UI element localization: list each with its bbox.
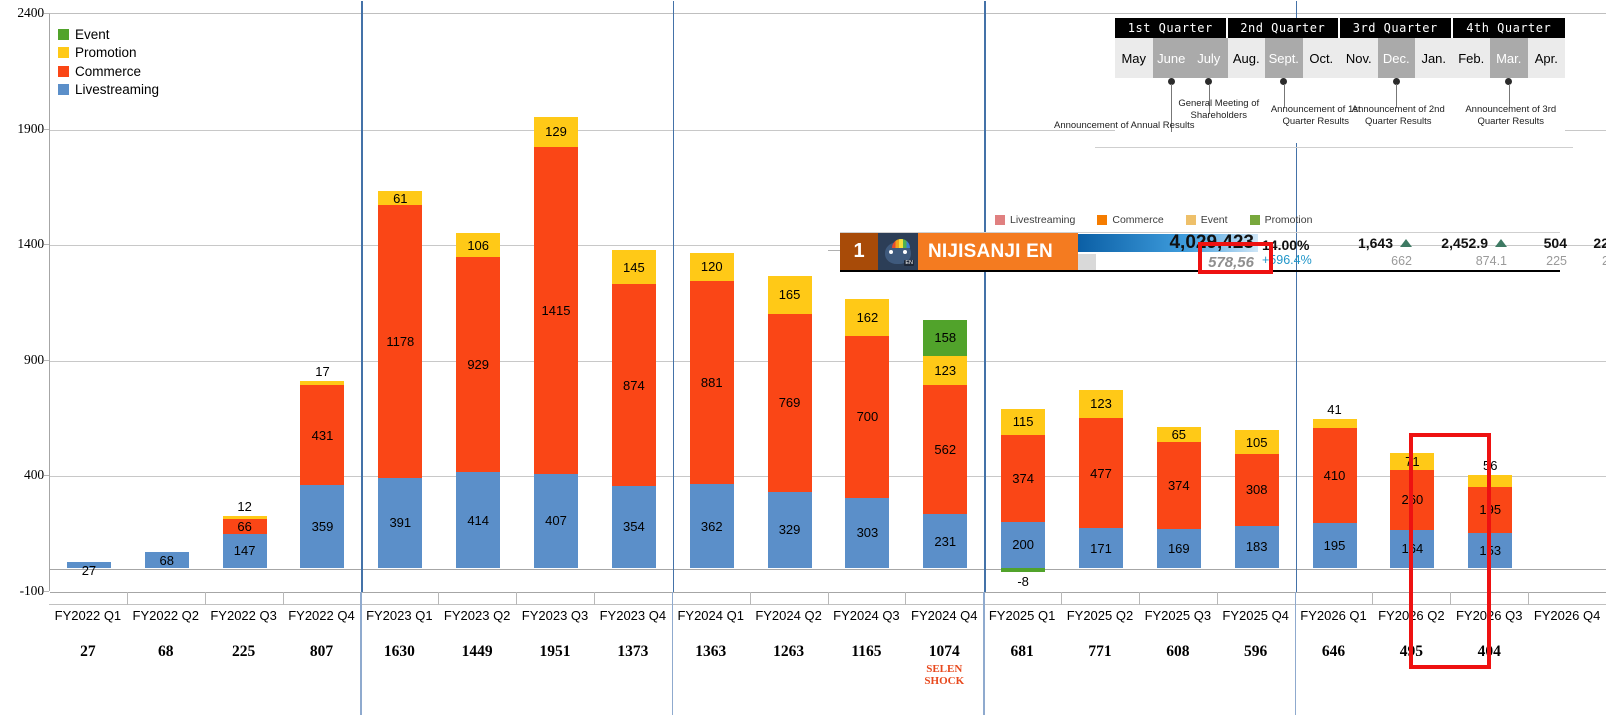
y-axis-tick-label: 900 — [0, 352, 44, 368]
bar-segment-commerce: 562 — [923, 385, 967, 515]
overlay-column-3: 504 225 — [1513, 233, 1573, 270]
x-axis-category-label: FY2023 Q2 — [438, 608, 516, 623]
x-axis-category-label: FY2026 Q1 — [1295, 608, 1373, 623]
bar-segment-commerce: 374 — [1157, 442, 1201, 528]
category-total: 27 — [49, 643, 127, 661]
bar-segment-livestreaming: 407 — [534, 474, 578, 568]
overlay-column-3-bottom: 225 — [1546, 252, 1567, 270]
category-total: 1449 — [438, 643, 516, 661]
legend-item[interactable]: Livestreaming — [58, 81, 159, 100]
calendar-month-row: MayJuneJulyAug.Sept.Oct.Nov.Dec.Jan.Feb.… — [1115, 38, 1565, 78]
legend-item[interactable]: Promotion — [58, 44, 159, 63]
calendar-month-cell: Apr. — [1528, 38, 1566, 78]
x-axis-tick-separator — [1372, 592, 1373, 605]
bar-segment-commerce: 308 — [1235, 454, 1279, 525]
x-axis-category-label: FY2025 Q1 — [983, 608, 1061, 623]
bar-segment-promotion: 41 — [1313, 419, 1357, 428]
rank-number: 1 — [840, 233, 878, 270]
overlay-column-4-value: 22 — [1593, 235, 1606, 251]
x-axis-tick-separator — [1528, 592, 1529, 605]
calendar-event-annotations: Announcement of Annual ResultsGeneral Me… — [1115, 78, 1565, 141]
highlight-box-growth-percent — [1198, 242, 1273, 274]
x-axis-category-label: FY2023 Q3 — [516, 608, 594, 623]
calendar-month-cell: Oct. — [1303, 38, 1341, 78]
x-axis-tick-separator — [205, 592, 206, 605]
x-axis-category-cell[interactable]: FY2022 Q4807 — [283, 592, 361, 661]
overlay-legend-label: Commerce — [1112, 214, 1163, 226]
category-total: 807 — [283, 643, 361, 661]
overlay-metric-bar-secondary — [1078, 254, 1096, 270]
bar-segment-livestreaming: 169 — [1157, 529, 1201, 568]
legend-item[interactable]: Commerce — [58, 62, 159, 81]
bar-segment-livestreaming: 27 — [67, 562, 111, 568]
overlay-column-1: 1,643 662 — [1340, 233, 1418, 270]
category-total: 1263 — [750, 643, 828, 661]
bar-segment-commerce: 881 — [690, 281, 734, 485]
bar-segment-promotion: 145 — [612, 250, 656, 284]
overlay-column-4: 22 2 — [1573, 233, 1606, 270]
legend-item[interactable]: Event — [58, 25, 159, 44]
bar-value-label: 27 — [67, 563, 111, 578]
bar-segment-promotion: 61 — [378, 191, 422, 205]
bar-segment-promotion: 123 — [923, 356, 967, 384]
channel-name: NIJISANJI EN — [918, 233, 1078, 270]
calendar-quarter-header: 2nd Quarter — [1228, 18, 1341, 38]
x-axis-tick-separator — [1061, 592, 1062, 605]
bar-segment-commerce: 477 — [1079, 418, 1123, 528]
x-axis-tick-separator — [1217, 592, 1218, 605]
legend-item-label: Event — [75, 27, 110, 42]
calendar-bottom-rule — [1095, 147, 1573, 148]
calendar-month-cell: Nov. — [1340, 38, 1378, 78]
x-axis-category-cell[interactable]: FY2024 Q21263 — [750, 592, 828, 661]
calendar-event-label: Announcement of Annual Results — [1039, 120, 1209, 132]
bar-segment-promotion: 17 — [300, 381, 344, 385]
bar-segment-label: 17 — [300, 364, 344, 379]
bar-segment-promotion: 105 — [1235, 430, 1279, 454]
bar-segment-promotion: 123 — [1079, 390, 1123, 418]
calendar-month-cell: Mar. — [1490, 38, 1528, 78]
calendar-month-cell: Sept. — [1265, 38, 1303, 78]
chart-legend: EventPromotionCommerceLivestreaming — [58, 25, 159, 99]
category-total: 608 — [1139, 643, 1217, 661]
bar-segment-livestreaming: 195 — [1313, 523, 1357, 568]
calendar-quarter-header: 3rd Quarter — [1340, 18, 1453, 38]
x-axis-year-separator — [672, 592, 674, 715]
bar-segment-livestreaming: 354 — [612, 486, 656, 568]
y-axis-tick-label: 2400 — [0, 5, 44, 21]
y-axis-tick-label: 1400 — [0, 236, 44, 252]
calendar-quarter-header: 1st Quarter — [1115, 18, 1228, 38]
calendar-month-cell: Jan. — [1415, 38, 1453, 78]
x-axis-category-cell[interactable]: FY2026 Q1646 — [1295, 592, 1373, 661]
x-axis-tick-separator — [750, 592, 751, 605]
bar-segment-commerce: 1415 — [534, 147, 578, 474]
calendar-month-cell: Aug. — [1228, 38, 1266, 78]
x-axis-labels: FY2022 Q127FY2022 Q268FY2022 Q3225FY2022… — [49, 592, 1606, 715]
overlay-column-1-top: 1,643 — [1358, 233, 1412, 252]
x-axis-category-cell[interactable]: FY2023 Q41373 — [594, 592, 672, 661]
bar-segment-livestreaming: 171 — [1079, 528, 1123, 568]
overlay-column-2-top: 2,452.9 — [1441, 233, 1507, 252]
calendar-month-cell: Feb. — [1453, 38, 1491, 78]
x-axis-category-cell[interactable]: FY2025 Q1681 — [983, 592, 1061, 661]
overlay-legend-item: Livestreaming — [995, 214, 1075, 226]
highlight-box-fy2026-q3 — [1409, 433, 1491, 669]
x-axis-category-label: FY2025 Q3 — [1139, 608, 1217, 623]
overlay-legend: LivestreamingCommerceEventPromotion — [840, 212, 1560, 228]
overlay-column-2: 2,452.9 874.1 — [1418, 233, 1513, 270]
category-total: 1165 — [828, 643, 906, 661]
x-axis-category-label: FY2022 Q1 — [49, 608, 127, 623]
x-axis-category-label: FY2022 Q4 — [283, 608, 361, 623]
overlay-column-4-bottom: 2 — [1602, 252, 1606, 270]
legend-swatch-icon — [58, 29, 69, 40]
y-axis-tick-label: 1900 — [0, 121, 44, 137]
x-axis-year-separator — [983, 592, 985, 715]
bar-segment-livestreaming: 147 — [223, 534, 267, 568]
category-total: 681 — [983, 643, 1061, 661]
category-annotation: SELEN SHOCK — [905, 664, 983, 687]
overlay-legend-label: Event — [1201, 214, 1228, 226]
avatar-eye-right — [903, 250, 907, 254]
overlay-column-2-bottom: 874.1 — [1476, 252, 1507, 270]
bar-segment-promotion: 120 — [690, 253, 734, 281]
bar-segment-livestreaming: 231 — [923, 514, 967, 567]
x-axis-year-separator — [1295, 592, 1297, 715]
y-axis-tick-label: -100 — [0, 583, 44, 599]
avatar-en-tag: EN — [904, 260, 914, 266]
category-total: 68 — [127, 643, 205, 661]
calendar-month-cell: July — [1190, 38, 1228, 78]
bar-segment-commerce: 769 — [768, 314, 812, 492]
x-axis-category-cell[interactable]: FY2023 Q11630 — [360, 592, 438, 661]
category-total: 1074 — [905, 643, 983, 661]
bar-segment-commerce: 66 — [223, 519, 267, 534]
x-axis-tick-separator — [594, 592, 595, 605]
category-total: 646 — [1295, 643, 1373, 661]
overlay-column-3-top: 504 — [1544, 233, 1567, 252]
bar-segment-commerce: 929 — [456, 257, 500, 472]
bar-segment-livestreaming: 359 — [300, 485, 344, 568]
x-axis-category-label: FY2022 Q3 — [205, 608, 283, 623]
bar-segment-label: 41 — [1313, 402, 1357, 417]
x-axis-category-label: FY2024 Q4 — [905, 608, 983, 623]
channel-avatar-icon: EN — [878, 233, 918, 270]
overlay-legend-label: Livestreaming — [1010, 214, 1075, 226]
overlay-legend-swatch-icon — [1250, 215, 1260, 225]
overlay-legend-item: Promotion — [1250, 214, 1313, 226]
bar-segment-promotion: 162 — [845, 299, 889, 336]
bar-segment-event-negative: -8 — [1001, 568, 1045, 572]
x-axis-year-separator — [360, 592, 362, 715]
up-triangle-icon — [1495, 239, 1507, 247]
legend-swatch-icon — [58, 47, 69, 58]
fiscal-calendar-widget: 1st Quarter2nd Quarter3rd Quarter4th Qua… — [1115, 18, 1565, 143]
overlay-column-2-value: 2,452.9 — [1441, 235, 1488, 251]
bar-segment-commerce: 410 — [1313, 428, 1357, 523]
bar-segment-event: 158 — [923, 320, 967, 357]
bar-segment-commerce: 431 — [300, 385, 344, 485]
bar-segment-promotion: 65 — [1157, 427, 1201, 442]
avatar-eye-left — [889, 250, 893, 254]
legend-item-label: Livestreaming — [75, 82, 159, 97]
overlay-legend-item: Commerce — [1097, 214, 1163, 226]
legend-swatch-icon — [58, 84, 69, 95]
x-axis-category-cell[interactable]: FY2022 Q3225 — [205, 592, 283, 661]
bar-segment-promotion: 12 — [223, 516, 267, 519]
bar-segment-label: 12 — [223, 499, 267, 514]
x-axis-tick-separator — [828, 592, 829, 605]
category-total: 596 — [1217, 643, 1295, 661]
x-axis-category-label: FY2023 Q1 — [360, 608, 438, 623]
x-axis-category-cell[interactable]: FY2024 Q11363 — [672, 592, 750, 661]
bar-segment-commerce: 374 — [1001, 435, 1045, 521]
x-axis-tick-separator — [283, 592, 284, 605]
x-axis-category-cell[interactable]: FY2025 Q4596 — [1217, 592, 1295, 661]
category-total: 1363 — [672, 643, 750, 661]
overlay-legend-swatch-icon — [995, 215, 1005, 225]
category-total: 771 — [1061, 643, 1139, 661]
overlay-column-3-value: 504 — [1544, 235, 1567, 251]
calendar-event-label: Announcement of 2nd Quarter Results — [1338, 104, 1458, 128]
x-axis-category-label: FY2022 Q2 — [127, 608, 205, 623]
x-axis-category-cell[interactable]: FY2025 Q2771 — [1061, 592, 1139, 661]
calendar-month-cell: June — [1153, 38, 1191, 78]
bar-segment-commerce: 1178 — [378, 205, 422, 477]
x-axis-tick-separator — [1139, 592, 1140, 605]
x-axis-tick-separator — [905, 592, 906, 605]
bar-value-label: 68 — [145, 553, 189, 568]
bar-negative-label: -8 — [1001, 574, 1045, 589]
x-axis-category-label: FY2025 Q2 — [1061, 608, 1139, 623]
category-total — [1528, 643, 1606, 661]
bar-segment-promotion: 129 — [534, 117, 578, 147]
bar-segment-commerce: 874 — [612, 284, 656, 486]
overlay-legend-label: Promotion — [1265, 214, 1313, 226]
category-total: 1630 — [360, 643, 438, 661]
overlay-column-1-value: 1,643 — [1358, 235, 1393, 251]
x-axis-category-label: FY2024 Q3 — [828, 608, 906, 623]
x-axis-category-label: FY2026 Q4 — [1528, 608, 1606, 623]
x-axis-tick-separator — [516, 592, 517, 605]
x-axis-category-cell[interactable]: FY2025 Q3608 — [1139, 592, 1217, 661]
bar-segment-promotion: 165 — [768, 276, 812, 314]
bar-segment-livestreaming: 183 — [1235, 526, 1279, 568]
category-total: 225 — [205, 643, 283, 661]
bar-segment-promotion: 115 — [1001, 409, 1045, 436]
calendar-quarter-row: 1st Quarter2nd Quarter3rd Quarter4th Qua… — [1115, 18, 1565, 38]
bar-segment-livestreaming: 329 — [768, 492, 812, 568]
calendar-month-cell: Dec. — [1378, 38, 1416, 78]
bar-segment-livestreaming: 200 — [1001, 522, 1045, 568]
x-axis-category-cell[interactable]: FY2023 Q31951 — [516, 592, 594, 661]
x-axis-category-cell[interactable]: FY2024 Q41074SELEN SHOCK — [905, 592, 983, 687]
y-axis-tick-label: 400 — [0, 467, 44, 483]
x-axis-tick-separator — [127, 592, 128, 605]
overlay-legend-swatch-icon — [1186, 215, 1196, 225]
category-total: 1951 — [516, 643, 594, 661]
bar-segment-livestreaming: 414 — [456, 472, 500, 568]
calendar-month-cell: May — [1115, 38, 1153, 78]
calendar-event-label: Announcement of 3rd Quarter Results — [1451, 104, 1571, 128]
overlay-column-4-top: 22 — [1593, 233, 1606, 252]
x-axis-category-cell[interactable]: FY2023 Q21449 — [438, 592, 516, 661]
bar-segment-commerce: 700 — [845, 336, 889, 498]
x-axis-category-cell[interactable]: FY2022 Q268 — [127, 592, 205, 661]
x-axis-tick-separator — [438, 592, 439, 605]
x-axis-category-label: FY2024 Q1 — [672, 608, 750, 623]
bar-segment-promotion: 106 — [456, 233, 500, 258]
overlay-legend-item: Event — [1186, 214, 1228, 226]
bar-segment-livestreaming: 303 — [845, 498, 889, 568]
bar-segment-livestreaming: 362 — [690, 484, 734, 568]
bar-segment-livestreaming: 68 — [145, 552, 189, 568]
overlay-legend-swatch-icon — [1097, 215, 1107, 225]
calendar-quarter-header: 4th Quarter — [1453, 18, 1566, 38]
y-axis: 240019001400900400-100 — [0, 0, 44, 715]
x-axis-category-cell[interactable]: FY2024 Q31165 — [828, 592, 906, 661]
x-axis-category-label: FY2023 Q4 — [594, 608, 672, 623]
legend-swatch-icon — [58, 66, 69, 77]
x-axis-category-cell[interactable]: FY2026 Q4 — [1528, 592, 1606, 661]
legend-item-label: Promotion — [75, 45, 137, 60]
bar-segment-livestreaming: 391 — [378, 478, 422, 568]
category-total: 1373 — [594, 643, 672, 661]
up-triangle-icon — [1400, 239, 1412, 247]
avatar-rainbow-shape — [892, 239, 910, 248]
x-axis-category-cell[interactable]: FY2022 Q127 — [49, 592, 127, 661]
overlay-column-1-bottom: 662 — [1391, 252, 1412, 270]
x-axis-category-label: FY2025 Q4 — [1217, 608, 1295, 623]
x-axis-category-label: FY2024 Q2 — [750, 608, 828, 623]
legend-item-label: Commerce — [75, 64, 141, 79]
